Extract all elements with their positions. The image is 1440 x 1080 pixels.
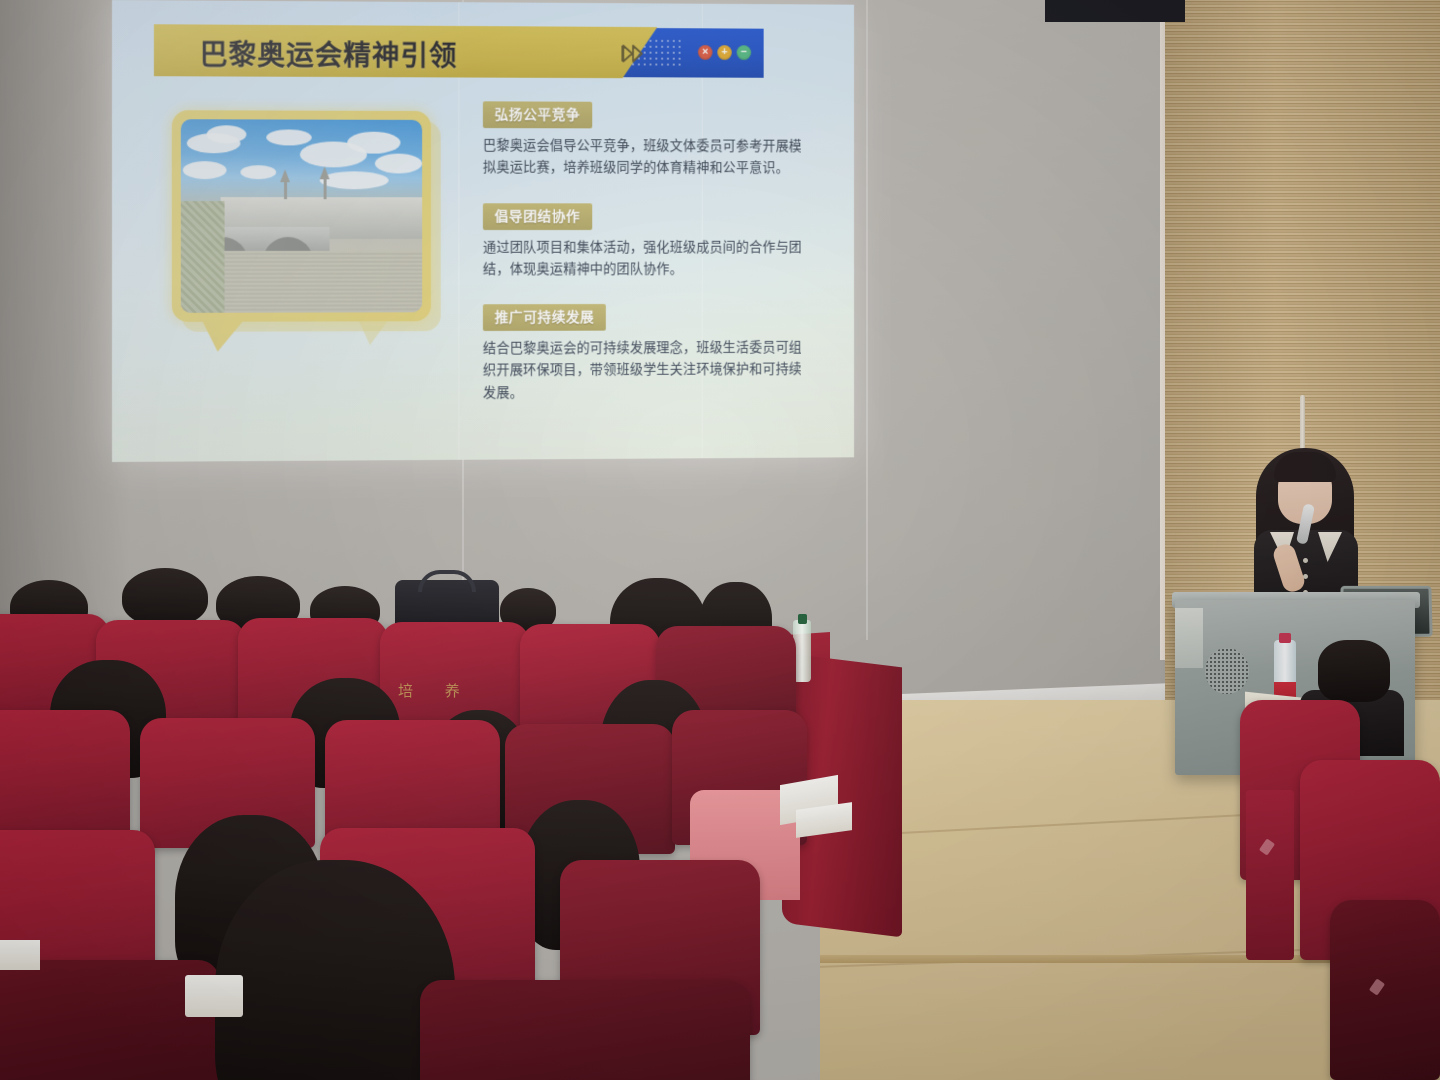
minimize-dot-icon[interactable]: +	[717, 45, 731, 60]
section-badge: 推广可持续发展	[483, 304, 606, 331]
minimize-dot-glyph: +	[717, 45, 731, 60]
audience-head	[122, 568, 208, 626]
notebook	[185, 975, 243, 1017]
maximize-dot-glyph: −	[737, 45, 751, 60]
projection-screen: × + − 巴黎奥运会精神引领	[112, 0, 854, 462]
slide-title: 巴黎奥运会精神引领	[200, 33, 458, 74]
section-badge: 倡导团结协作	[483, 203, 592, 230]
section-body: 巴黎奥运会倡导公平竞争，班级文体委员可参考开展模拟奥运比赛，培养班级同学的体育精…	[483, 135, 813, 180]
seat[interactable]	[1330, 900, 1440, 1080]
slide-title-bar: × + − 巴黎奥运会精神引领	[154, 24, 831, 79]
lecture-hall-scene: × + − 巴黎奥运会精神引领	[0, 0, 1440, 1080]
backpack-handle	[418, 570, 476, 592]
seat-engraving: 培 养	[398, 680, 474, 701]
presenter-fringe	[1274, 452, 1336, 482]
section-body: 通过团队项目和集体活动，强化班级成员间的合作与团结，体现奥运精神中的团队协作。	[483, 236, 813, 280]
window-dots-group: × + −	[698, 45, 751, 60]
ceiling-panel	[1045, 0, 1185, 22]
seat-side-panel	[1246, 790, 1294, 960]
photo-trees	[181, 201, 225, 313]
slide-section: 弘扬公平竞争 巴黎奥运会倡导公平竞争，班级文体委员可参考开展模拟奥运比赛，培养班…	[483, 101, 822, 179]
notebook	[0, 940, 40, 970]
slide-section: 推广可持续发展 结合巴黎奥运会的可持续发展理念，班级生活委员可组织开展环保项目，…	[483, 304, 822, 404]
podium-panel	[1175, 608, 1203, 668]
bubble-tail	[200, 316, 248, 352]
paris-photo	[181, 119, 422, 313]
speaker-grille-icon	[1205, 648, 1249, 694]
close-dot-icon[interactable]: ×	[698, 45, 713, 60]
student-head	[1318, 640, 1390, 702]
seat[interactable]	[0, 710, 130, 840]
slide-section: 倡导团结协作 通过团队项目和集体活动，强化班级成员间的合作与团结，体现奥运精神中…	[483, 203, 822, 281]
slide-sections: 弘扬公平竞争 巴黎奥运会倡导公平竞争，班级文体委员可参考开展模拟奥运比赛，培养班…	[483, 101, 822, 428]
audience-head-foreground	[215, 860, 455, 1080]
slide-photo-bubble	[172, 110, 431, 322]
close-dot-glyph: ×	[698, 45, 713, 60]
section-badge: 弘扬公平竞争	[483, 101, 592, 128]
seat[interactable]	[420, 980, 750, 1080]
audience-seating: 培 养	[0, 560, 930, 1080]
section-body: 结合巴黎奥运会的可持续发展理念，班级生活委员可组织开展环保项目，带领班级学生关注…	[483, 337, 813, 404]
maximize-dot-icon[interactable]: −	[737, 45, 751, 60]
play-forward-icon	[620, 44, 645, 64]
podium-bottle-cap	[1279, 633, 1291, 643]
wall-seam	[866, 0, 868, 640]
